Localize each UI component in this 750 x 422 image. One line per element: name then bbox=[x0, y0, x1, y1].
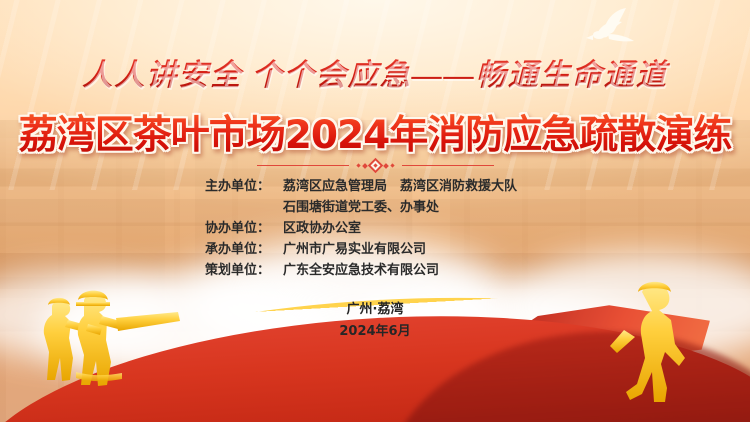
organizer-value-b: 荔湾区消防救援大队 bbox=[400, 179, 517, 194]
organizer-value: 荔湾区应急管理局荔湾区消防救援大队 bbox=[283, 176, 517, 197]
divider-dot bbox=[390, 163, 394, 167]
organizer-value: 广东全安应急技术有限公司 bbox=[283, 260, 439, 281]
organizer-row-undertaker: 承办单位： 广州市广易实业有限公司 bbox=[205, 239, 517, 260]
organizer-label: 协办单位： bbox=[205, 218, 283, 239]
organizer-list: 主办单位： 荔湾区应急管理局荔湾区消防救援大队 石围塘街道党工委、办事处 协办单… bbox=[205, 176, 517, 281]
organizer-value: 广州市广易实业有限公司 bbox=[283, 239, 426, 260]
organizer-row-planner: 策划单位： 广东全安应急技术有限公司 bbox=[205, 260, 517, 281]
organizer-row-host-line2: 石围塘街道党工委、办事处 bbox=[205, 197, 517, 218]
diamond-ornament-icon bbox=[0, 160, 750, 171]
organizer-row-coorganizer: 协办单位： 区政协办公室 bbox=[205, 218, 517, 239]
event-location: 广州·荔湾 bbox=[0, 298, 750, 317]
divider-line-left bbox=[257, 165, 349, 166]
slogan-text: 人人讲安全 个个会应急——畅通生命通道 bbox=[0, 50, 750, 94]
organizer-label: 主办单位： bbox=[205, 176, 283, 197]
organizer-row-host: 主办单位： 荔湾区应急管理局荔湾区消防救援大队 bbox=[205, 176, 517, 197]
organizer-value: 区政协办公室 bbox=[283, 218, 361, 239]
divider-line-right bbox=[402, 165, 494, 166]
divider-gem bbox=[357, 160, 394, 171]
page-title: 荔湾区茶叶市场2024年消防应急疏散演练 bbox=[0, 104, 750, 160]
organizer-label: 策划单位： bbox=[205, 260, 283, 281]
organizer-label: 承办单位： bbox=[205, 239, 283, 260]
dove-icon bbox=[568, 6, 642, 50]
divider-dot bbox=[383, 163, 389, 169]
event-date: 2024年6月 bbox=[0, 320, 750, 339]
event-poster: 人人讲安全 个个会应急——畅通生命通道 荔湾区茶叶市场2024年消防应急疏散演练… bbox=[0, 0, 750, 422]
organizer-value-a: 荔湾区应急管理局 bbox=[283, 179, 387, 194]
divider-dot bbox=[362, 163, 368, 169]
divider-dot bbox=[356, 163, 360, 167]
divider-rhombus bbox=[367, 158, 383, 174]
